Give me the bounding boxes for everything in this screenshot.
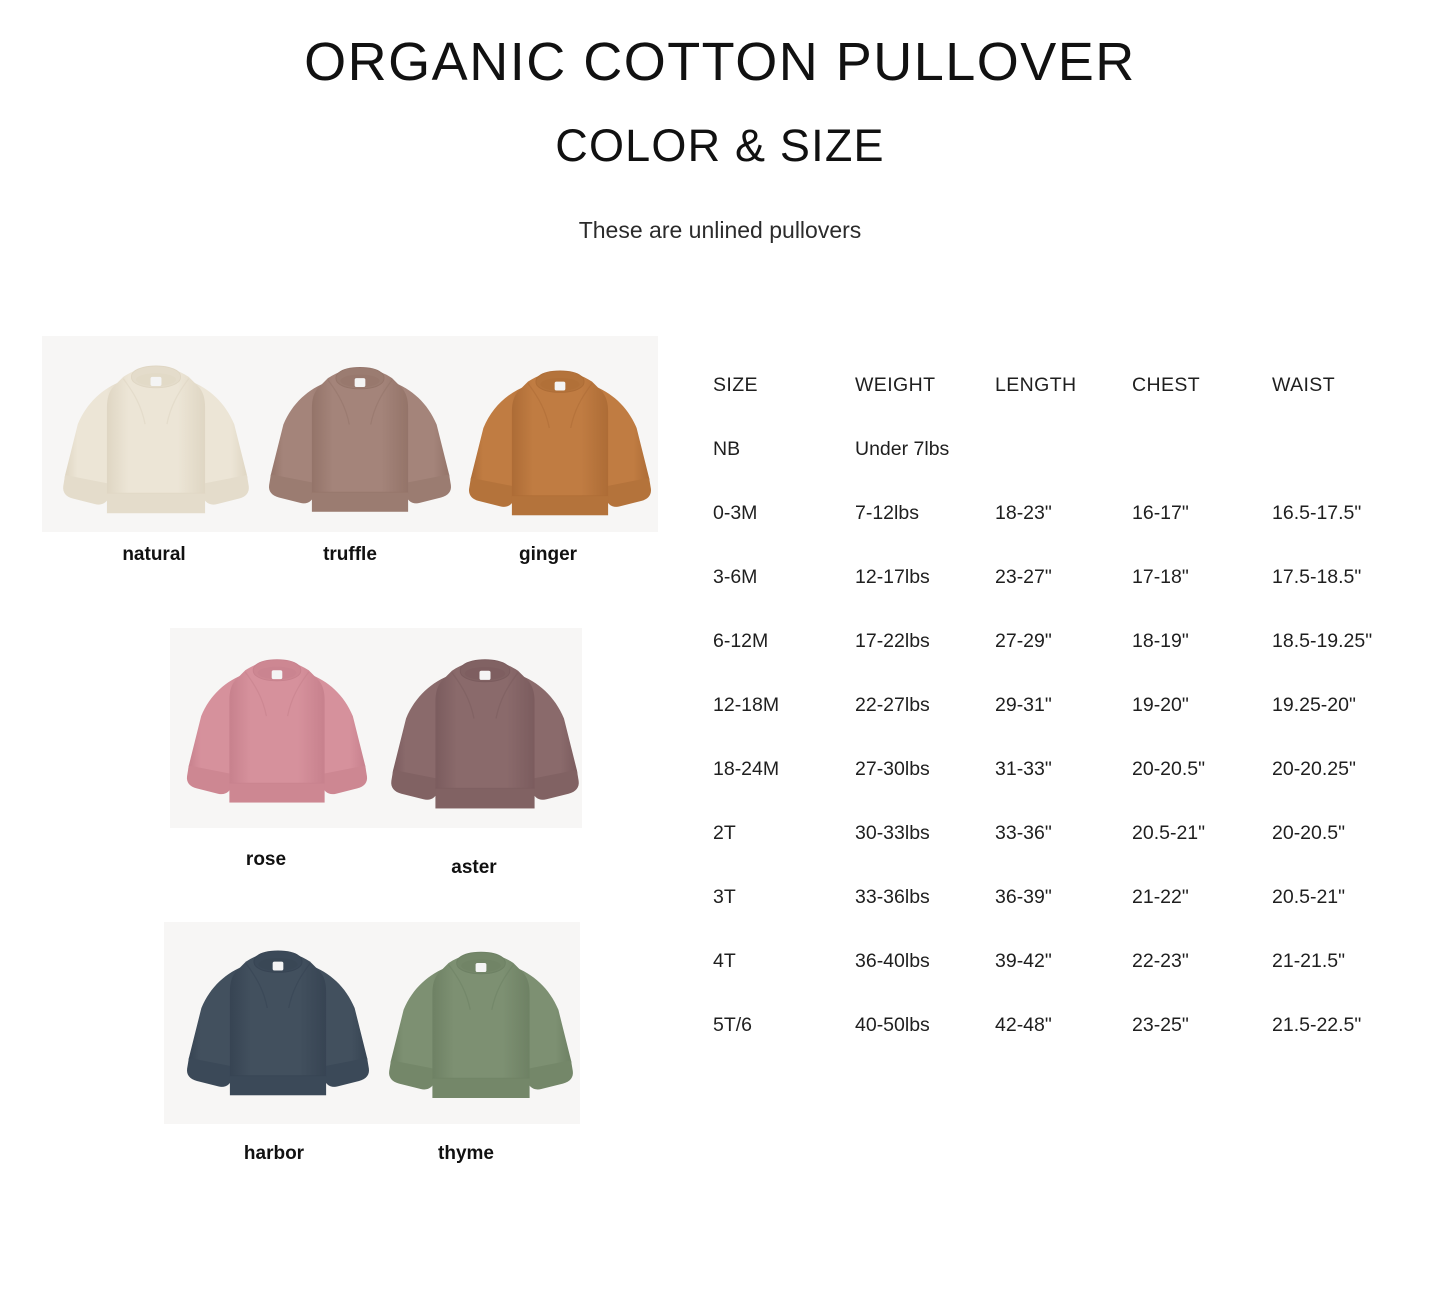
size-chart-table: SIZE WEIGHT LENGTH CHEST WAIST NBUnder 7… [713, 372, 1413, 1076]
cell-waist: 21-21.5" [1272, 948, 1413, 972]
cell-waist [1272, 436, 1413, 439]
cell-chest: 22-23" [1132, 948, 1272, 972]
pullover-image-aster[interactable] [384, 640, 586, 830]
cell-chest: 17-18" [1132, 564, 1272, 588]
pullover-image-natural[interactable] [56, 348, 256, 533]
cell-weight: 17-22lbs [855, 628, 995, 652]
cell-chest [1132, 436, 1272, 439]
color-label-truffle: truffle [250, 544, 450, 566]
cell-waist: 20-20.25" [1272, 756, 1413, 780]
cell-size: 0-3M [713, 500, 855, 524]
cell-length: 18-23" [995, 500, 1132, 524]
cell-length: 29-31" [995, 692, 1132, 716]
page-title: ORGANIC COTTON PULLOVER [0, 34, 1440, 91]
cell-waist: 21.5-22.5" [1272, 1012, 1413, 1036]
cell-size: NB [713, 436, 855, 460]
table-row: 4T36-40lbs39-42"22-23"21-21.5" [713, 948, 1413, 1012]
cell-weight: 30-33lbs [855, 820, 995, 844]
cell-size: 12-18M [713, 692, 855, 716]
cell-length: 27-29" [995, 628, 1132, 652]
cell-length: 42-48" [995, 1012, 1132, 1036]
pullover-image-ginger[interactable] [462, 354, 658, 534]
table-row: 18-24M27-30lbs31-33"20-20.5"20-20.25" [713, 756, 1413, 820]
cell-size: 2T [713, 820, 855, 844]
cell-waist: 19.25-20" [1272, 692, 1413, 716]
pullover-image-truffle[interactable] [262, 348, 458, 533]
cell-weight: Under 7lbs [855, 436, 995, 460]
pullover-image-thyme[interactable] [382, 934, 580, 1118]
color-label-aster: aster [374, 857, 574, 879]
cell-waist: 20-20.5" [1272, 820, 1413, 844]
cell-weight: 7-12lbs [855, 500, 995, 524]
column-header-chest: CHEST [1132, 372, 1272, 396]
page-subtitle: COLOR & SIZE [0, 122, 1440, 169]
cell-size: 5T/6 [713, 1012, 855, 1036]
cell-size: 6-12M [713, 628, 855, 652]
cell-chest: 19-20" [1132, 692, 1272, 716]
cell-weight: 33-36lbs [855, 884, 995, 908]
cell-size: 4T [713, 948, 855, 972]
cell-chest: 18-19" [1132, 628, 1272, 652]
column-header-length: LENGTH [995, 372, 1132, 396]
cell-length [995, 436, 1132, 439]
table-row: 3-6M12-17lbs23-27"17-18"17.5-18.5" [713, 564, 1413, 628]
cell-weight: 40-50lbs [855, 1012, 995, 1036]
cell-chest: 20-20.5" [1132, 756, 1272, 780]
table-row: 2T30-33lbs33-36"20.5-21"20-20.5" [713, 820, 1413, 884]
cell-weight: 36-40lbs [855, 948, 995, 972]
cell-weight: 22-27lbs [855, 692, 995, 716]
pullover-image-harbor[interactable] [180, 932, 376, 1116]
cell-waist: 20.5-21" [1272, 884, 1413, 908]
table-row: 6-12M17-22lbs27-29"18-19"18.5-19.25" [713, 628, 1413, 692]
column-header-size: SIZE [713, 372, 855, 396]
cell-chest: 23-25" [1132, 1012, 1272, 1036]
cell-chest: 16-17" [1132, 500, 1272, 524]
color-label-thyme: thyme [366, 1143, 566, 1165]
cell-length: 33-36" [995, 820, 1132, 844]
cell-waist: 18.5-19.25" [1272, 628, 1413, 652]
color-label-rose: rose [166, 849, 366, 871]
product-size-guide-page: ORGANIC COTTON PULLOVER COLOR & SIZE The… [0, 0, 1440, 1300]
table-row: 3T33-36lbs36-39"21-22"20.5-21" [713, 884, 1413, 948]
table-row: 5T/640-50lbs42-48"23-25"21.5-22.5" [713, 1012, 1413, 1076]
column-header-weight: WEIGHT [855, 372, 995, 396]
color-label-harbor: harbor [174, 1143, 374, 1165]
table-row: 12-18M22-27lbs29-31"19-20"19.25-20" [713, 692, 1413, 756]
cell-size: 3T [713, 884, 855, 908]
tagline: These are unlined pullovers [0, 217, 1440, 244]
cell-size: 18-24M [713, 756, 855, 780]
size-chart-body: NBUnder 7lbs0-3M7-12lbs18-23"16-17"16.5-… [713, 436, 1413, 1076]
cell-waist: 17.5-18.5" [1272, 564, 1413, 588]
table-row: 0-3M7-12lbs18-23"16-17"16.5-17.5" [713, 500, 1413, 564]
table-row: NBUnder 7lbs [713, 436, 1413, 500]
cell-weight: 27-30lbs [855, 756, 995, 780]
cell-length: 39-42" [995, 948, 1132, 972]
pullover-image-rose[interactable] [180, 642, 374, 822]
color-label-ginger: ginger [448, 544, 648, 566]
cell-length: 31-33" [995, 756, 1132, 780]
size-chart-header-row: SIZE WEIGHT LENGTH CHEST WAIST [713, 372, 1413, 436]
color-label-natural: natural [54, 544, 254, 566]
cell-chest: 20.5-21" [1132, 820, 1272, 844]
cell-chest: 21-22" [1132, 884, 1272, 908]
column-header-waist: WAIST [1272, 372, 1413, 396]
cell-waist: 16.5-17.5" [1272, 500, 1413, 524]
cell-length: 23-27" [995, 564, 1132, 588]
cell-size: 3-6M [713, 564, 855, 588]
cell-length: 36-39" [995, 884, 1132, 908]
cell-weight: 12-17lbs [855, 564, 995, 588]
